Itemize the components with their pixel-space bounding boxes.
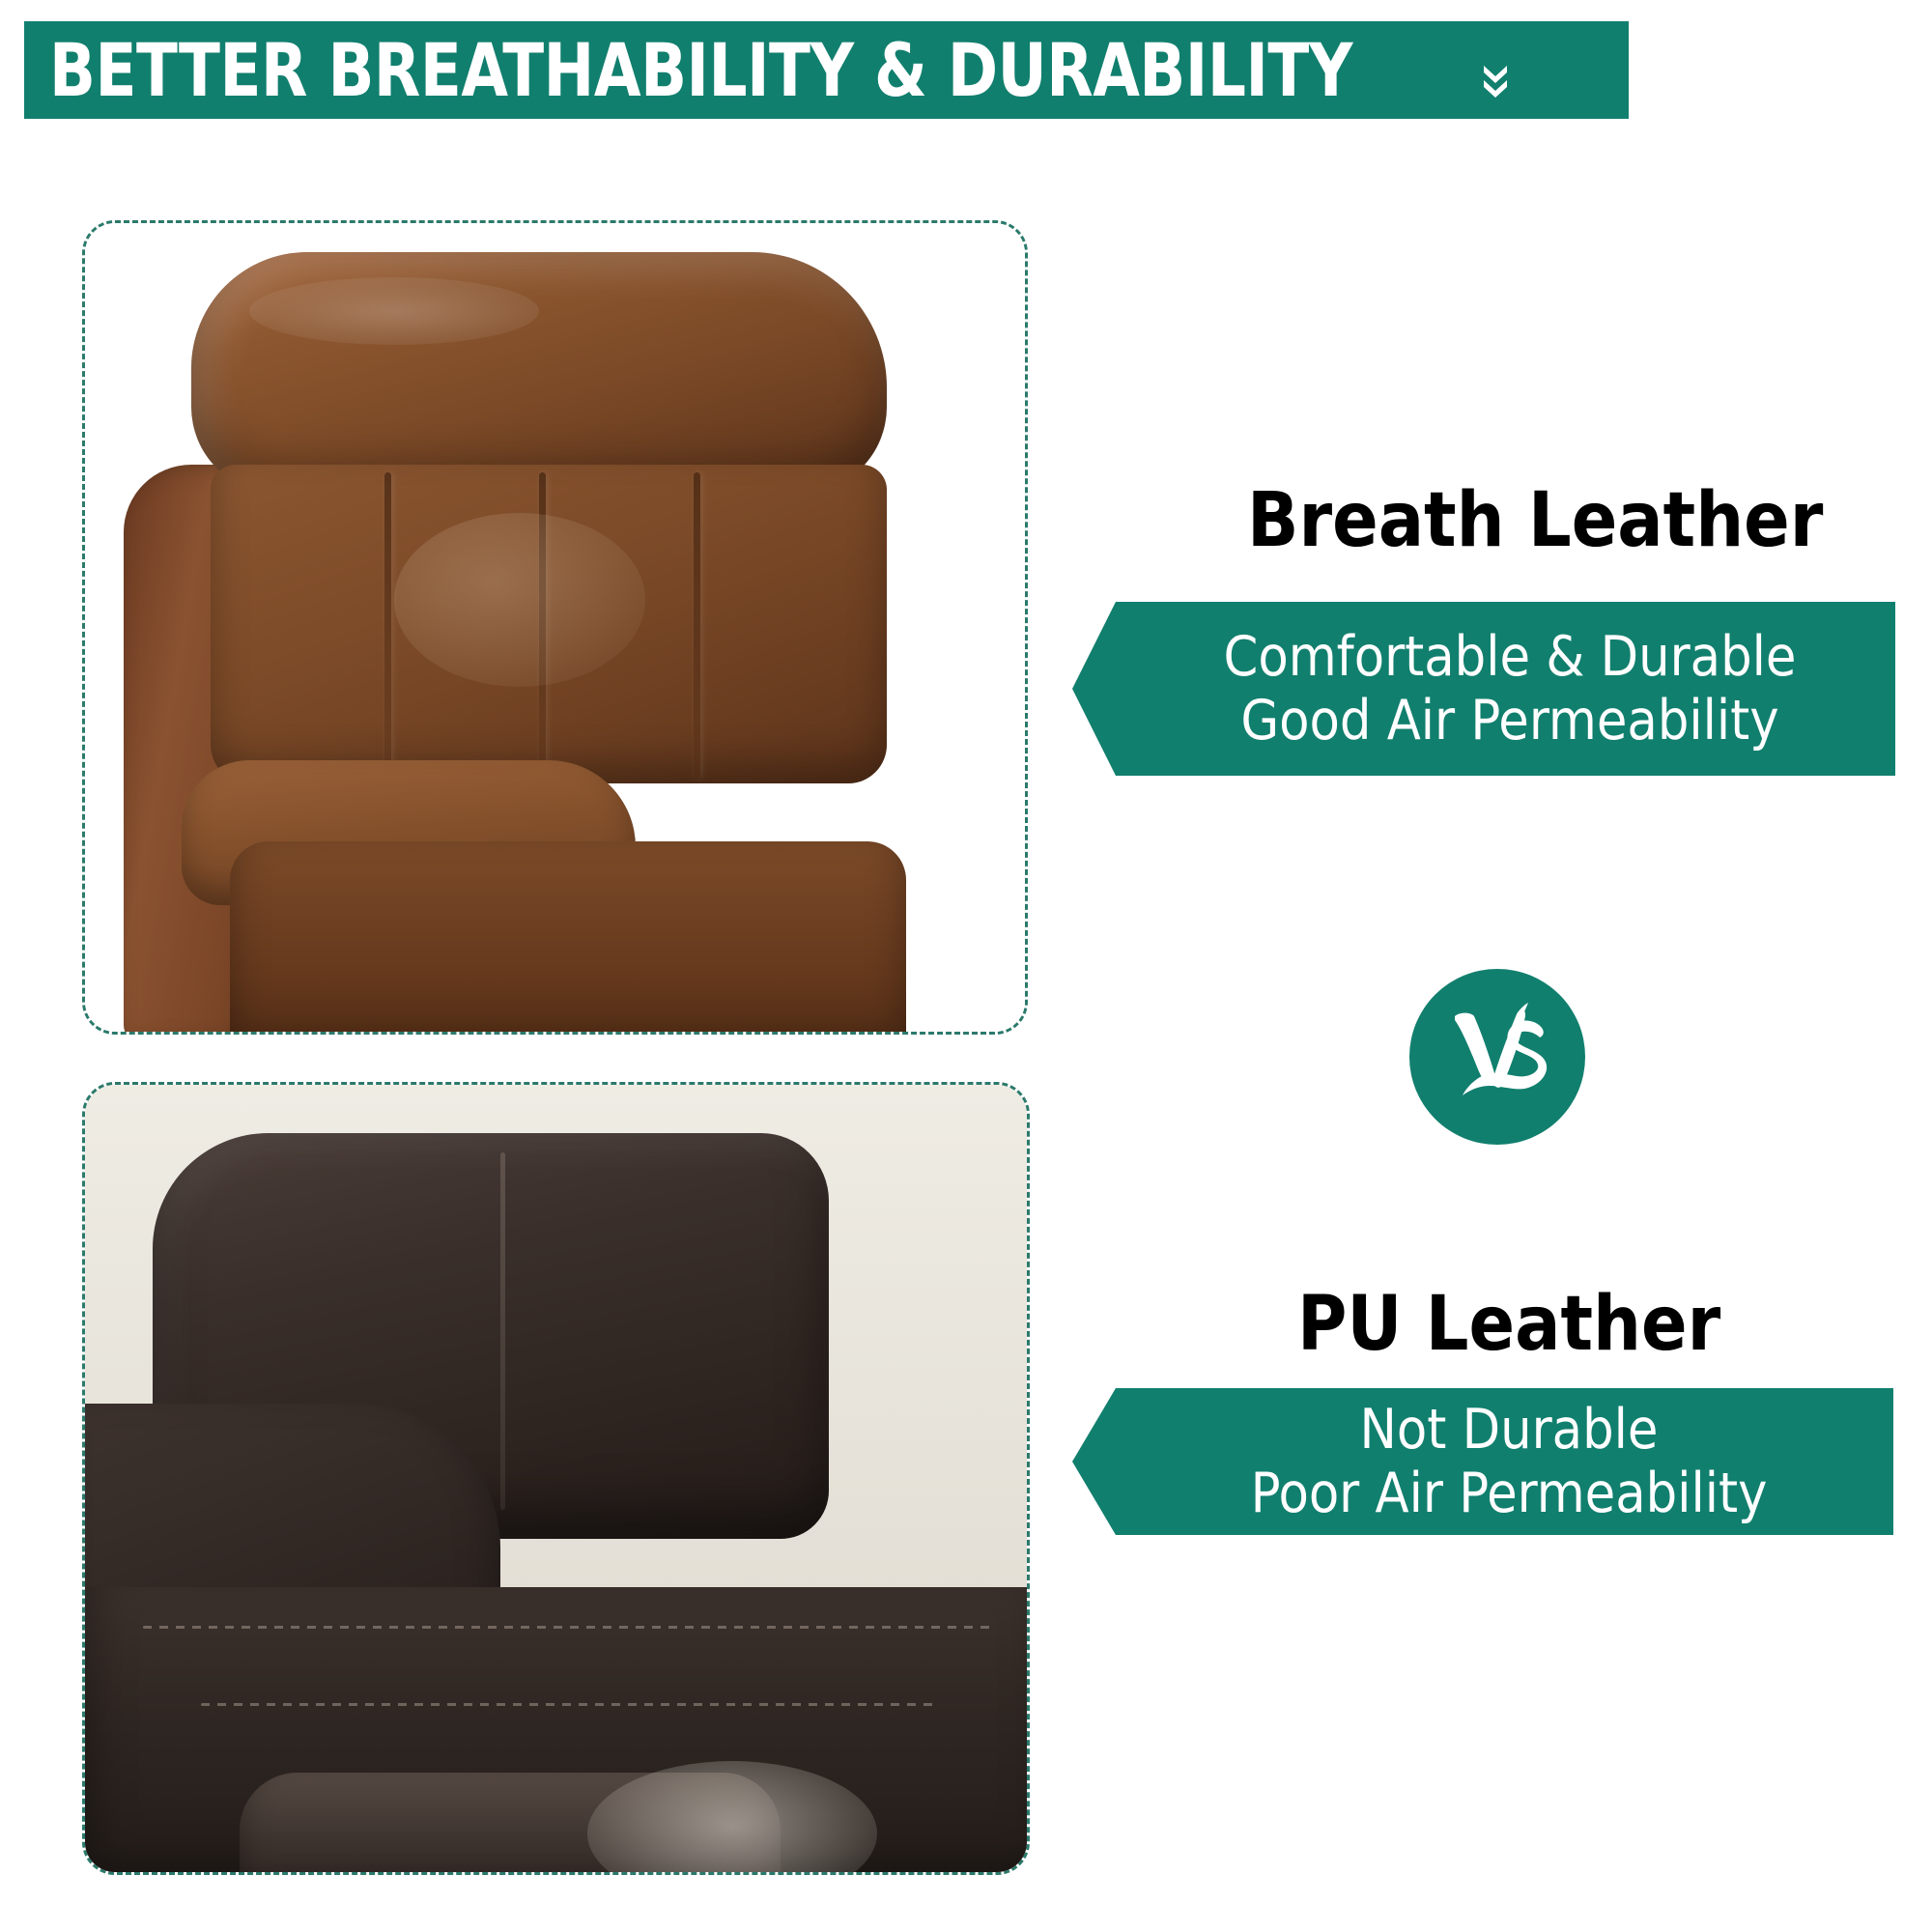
breath-leather-heading: Breath Leather [1247, 483, 1823, 558]
recliner-seat-front [230, 841, 906, 1032]
callout-line: Poor Air Permeability [1251, 1462, 1768, 1525]
pu-leather-photo [85, 1085, 1027, 1872]
stitch-line [201, 1703, 935, 1706]
cushion-seam [539, 472, 546, 780]
recliner-headrest [191, 252, 887, 494]
infographic-page: BETTER BREATHABILITY & DURABILITY [0, 0, 1932, 1932]
breath-leather-callout: Comfortable & Durable Good Air Permeabil… [1072, 602, 1895, 776]
breath-leather-photo [85, 223, 1025, 1032]
pu-leather-heading: PU Leather [1297, 1287, 1720, 1362]
sofa-footrest [240, 1773, 781, 1872]
photo-frame-breath-leather [82, 220, 1028, 1035]
page-title: BETTER BREATHABILITY & DURABILITY [49, 34, 1352, 107]
double-chevron-down-icon [1481, 64, 1510, 99]
recliner-back-cushion [211, 465, 887, 783]
pu-leather-illustration [85, 1085, 1027, 1872]
vs-brush-icon [1434, 993, 1561, 1121]
callout-line: Good Air Permeability [1240, 689, 1778, 753]
versus-badge [1409, 969, 1585, 1145]
breath-leather-illustration [85, 223, 1025, 1032]
cushion-seam [384, 472, 391, 780]
cushion-seam [500, 1152, 505, 1510]
callout-line: Comfortable & Durable [1224, 625, 1797, 689]
photo-frame-pu-leather [82, 1082, 1030, 1875]
callout-line: Not Durable [1360, 1398, 1659, 1462]
pu-leather-callout: Not Durable Poor Air Permeability [1072, 1388, 1893, 1535]
cushion-seam [694, 472, 700, 780]
stitch-line [143, 1626, 993, 1629]
header-banner: BETTER BREATHABILITY & DURABILITY [24, 21, 1629, 119]
